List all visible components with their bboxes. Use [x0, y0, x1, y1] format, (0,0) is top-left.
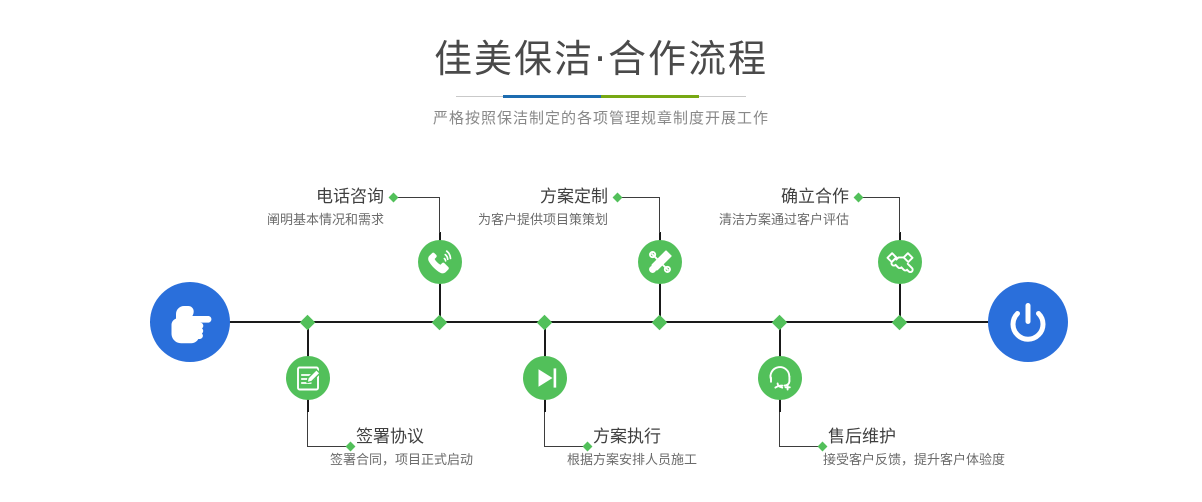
- power-button-icon: [988, 282, 1068, 362]
- label-step-3-desc: 为客户提供项目策策划: [355, 211, 608, 231]
- axis-diamond-step-5: [892, 315, 908, 331]
- label-step-4: 方案执行 根据方案安排人员施工: [593, 426, 853, 471]
- pointing-hand-icon: [150, 282, 230, 362]
- node-step-5: [878, 240, 922, 284]
- connector-horizontal-step-2: [307, 446, 350, 447]
- timeline-end-endpoint: [988, 282, 1068, 362]
- label-step-3-title: 方案定制: [355, 186, 608, 208]
- divider-segment-green: [601, 95, 699, 98]
- title-divider: [456, 95, 746, 98]
- phone-call-icon: [418, 240, 462, 284]
- connector-horizontal-step-5: [858, 197, 900, 198]
- handshake-icon: [878, 240, 922, 284]
- label-step-6: 售后维护 接受客户反馈，提升客户体验度: [828, 426, 1118, 471]
- connector-vertical-step-6: [779, 412, 780, 447]
- label-step-5-title: 确立合作: [596, 186, 849, 208]
- document-edit-icon: [286, 356, 330, 400]
- connector-dot-step-5: [854, 193, 864, 203]
- connector-vertical-step-2: [307, 412, 308, 447]
- axis-diamond-step-2: [300, 315, 316, 331]
- connector-horizontal-step-6: [779, 446, 822, 447]
- axis-diamond-step-6: [772, 315, 788, 331]
- connector-vertical-step-5: [899, 197, 900, 233]
- label-step-4-desc: 根据方案安排人员施工: [567, 451, 853, 471]
- connector-vertical-step-4: [544, 412, 545, 447]
- label-step-1: 电话咨询 阐明基本情况和需求: [130, 186, 384, 231]
- headset-support-icon: [758, 356, 802, 400]
- label-step-1-title: 电话咨询: [130, 186, 384, 208]
- connector-horizontal-step-4: [544, 446, 587, 447]
- play-execute-icon: [523, 356, 567, 400]
- divider-segment-blue: [503, 95, 601, 98]
- label-step-2-title: 签署协议: [356, 426, 616, 448]
- label-step-4-title: 方案执行: [593, 426, 853, 448]
- process-flow-infographic: 佳美保洁·合作流程 严格按照保洁制定的各项管理规章制度开展工作: [0, 0, 1202, 502]
- axis-diamond-step-4: [537, 315, 553, 331]
- label-step-3: 方案定制 为客户提供项目策策划: [355, 186, 608, 231]
- page-subtitle: 严格按照保洁制定的各项管理规章制度开展工作: [0, 106, 1202, 130]
- node-step-2: [286, 356, 330, 400]
- node-step-4: [523, 356, 567, 400]
- node-step-6: [758, 356, 802, 400]
- connector-dot-step-2: [346, 442, 356, 452]
- label-step-5: 确立合作 清洁方案通过客户评估: [596, 186, 849, 231]
- timeline-start-endpoint: [150, 282, 230, 362]
- axis-diamond-step-1: [432, 315, 448, 331]
- label-step-6-desc: 接受客户反馈，提升客户体验度: [823, 451, 1118, 471]
- label-step-1-desc: 阐明基本情况和需求: [130, 211, 384, 231]
- label-step-5-desc: 清洁方案通过客户评估: [596, 211, 849, 231]
- timeline-axis: [150, 321, 1052, 323]
- page-title: 佳美保洁·合作流程: [0, 36, 1202, 82]
- pencil-ruler-icon: [638, 240, 682, 284]
- axis-diamond-step-3: [652, 315, 668, 331]
- label-step-6-title: 售后维护: [828, 426, 1118, 448]
- node-step-3: [638, 240, 682, 284]
- node-step-1: [418, 240, 462, 284]
